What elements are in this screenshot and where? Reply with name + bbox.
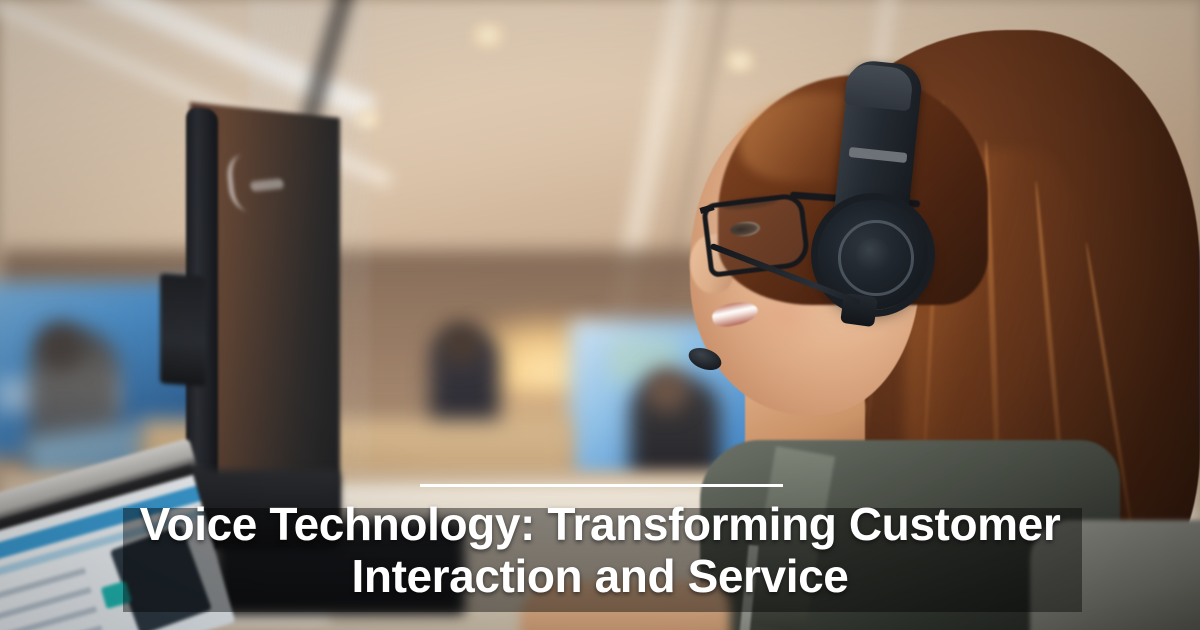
background-person-head [440,322,482,366]
headset-earcup-hub [856,238,890,272]
ceiling-downlight [465,22,511,48]
ceiling-downlight [720,50,760,72]
background-person-head [645,368,689,412]
title-container: Voice Technology: Transforming Customer … [0,498,1200,602]
background-person-head [36,322,84,370]
page-title: Voice Technology: Transforming Customer … [0,498,1200,602]
monitor-stand [160,273,206,386]
hero-banner: Voice Technology: Transforming Customer … [0,0,1200,630]
title-divider-rule [420,484,783,487]
